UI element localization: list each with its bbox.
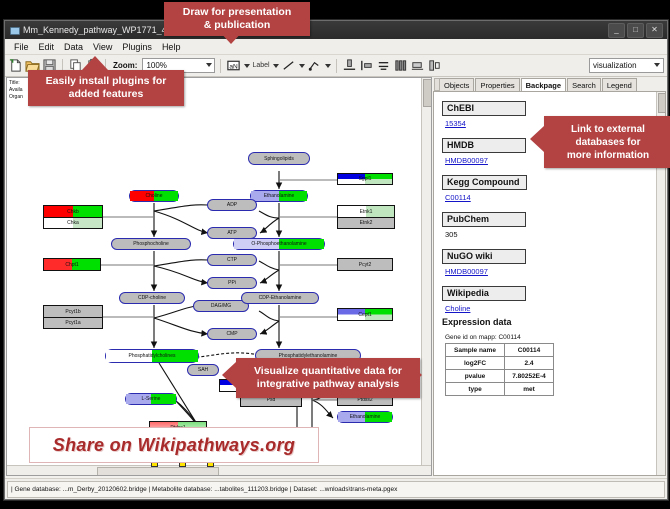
link-kegg[interactable]: C00114 [445, 193, 655, 202]
callout-plugins-line2: added features [69, 88, 144, 101]
new-file-icon[interactable] [8, 58, 23, 73]
section-header-hmdb: HMDB [442, 138, 526, 153]
node-label: PPi [228, 280, 236, 286]
node-label: CMP [226, 331, 237, 337]
gene-row[interactable]: Pcyt1b [44, 306, 102, 317]
node-ethanolamine-top[interactable]: Ethanolamine [250, 190, 308, 202]
cell-value: C00114 [505, 344, 554, 357]
window-titlebar: Mm_Kennedy_pathway_WP1771_45176.gpml _ □… [5, 21, 667, 39]
gene-label: Pcyt1b [65, 309, 80, 315]
gene-label: Chpt1 [65, 262, 78, 268]
callout-links-line1: Link to external [571, 123, 645, 136]
gene-label: Pcyt1a [65, 320, 80, 326]
callout-visualize-line2: integrative pathway analysis [257, 378, 399, 391]
callout-visualize-line1: Visualize quantitative data for [254, 365, 402, 378]
align-bottom-icon[interactable] [342, 58, 357, 73]
canvas-vertical-scrollbar[interactable] [421, 78, 431, 475]
gene-cept1[interactable]: Cept1 [337, 308, 393, 321]
node-ethanolamine-right[interactable]: Ethanolamine [337, 411, 393, 423]
node-label: CDP-choline [138, 295, 166, 301]
canvas-vertical-scroll-thumb[interactable] [423, 79, 431, 107]
cell-value: 7.80252E-4 [505, 370, 554, 383]
node-sphingolipids[interactable]: Sphingolipids [248, 152, 310, 165]
node-o-phosphoethanolamine[interactable]: O-Phosphoethanolamine [233, 238, 325, 250]
callout-links-line3: more information [567, 149, 649, 162]
expression-table: Sample name C00114 log2FC 2.4 pvalue 7.8… [445, 343, 554, 396]
gene-label: Etnk2 [360, 220, 373, 226]
callout-draw-arrow [218, 30, 244, 44]
callout-links: Link to external databases for more info… [544, 116, 670, 168]
backpage-scroll-thumb[interactable] [658, 93, 666, 113]
node-label: SAH [198, 367, 208, 373]
node-cmp[interactable]: CMP [207, 328, 257, 340]
zoom-value: 100% [146, 61, 166, 70]
share-banner-text: Share on Wikipathways.org [53, 435, 295, 456]
tab-objects[interactable]: Objects [439, 78, 474, 91]
callout-visualize-arrow-left [222, 362, 236, 388]
cell-key: type [446, 383, 505, 396]
gene-id-line: Gene id on mapp: C00114 [445, 334, 655, 341]
label-tool-label[interactable]: Label [252, 62, 269, 69]
section-header-nugo: NuGO wiki [442, 249, 526, 264]
cell-key: Sample name [446, 344, 505, 357]
link-wikipedia[interactable]: Choline [445, 304, 655, 313]
node-sah[interactable]: SAH [187, 364, 219, 376]
side-panel-tabs: Objects Properties Backpage Search Legen… [433, 77, 666, 91]
node-choline-top[interactable]: Choline [129, 190, 179, 202]
section-header-chebi: ChEBI [442, 101, 526, 116]
gene-label: Etnk1 [360, 209, 373, 215]
pathway-canvas[interactable]: Title: Availa Organ [7, 78, 431, 475]
pathway-canvas-panel[interactable]: Title: Availa Organ [6, 77, 432, 476]
link-nugo[interactable]: HMDB00097 [445, 267, 655, 276]
gene-row[interactable]: Etnk1 [338, 206, 394, 217]
maximize-icon[interactable]: □ [627, 23, 644, 38]
node-ppi[interactable]: PPi [207, 277, 257, 289]
callout-visualize: Visualize quantitative data for integrat… [236, 358, 420, 398]
node-label: L-Serine [142, 396, 161, 402]
tab-backpage[interactable]: Backpage [521, 78, 566, 92]
group-icon[interactable] [410, 58, 425, 73]
screenshot-root: Mm_Kennedy_pathway_WP1771_45176.gpml _ □… [0, 0, 670, 509]
gene-label: Pcyt2 [359, 262, 372, 268]
node-label: Sphingolipids [264, 156, 294, 162]
callout-plugins-arrow [82, 56, 108, 70]
line-icon[interactable] [281, 58, 296, 73]
app-icon [9, 25, 19, 35]
gene-chpt1[interactable]: Chpt1 [43, 258, 101, 271]
minimize-icon[interactable]: _ [608, 23, 625, 38]
section-header-kegg: Kegg Compound [442, 175, 527, 190]
tab-legend[interactable]: Legend [602, 78, 637, 91]
callout-links-arrow [530, 126, 544, 152]
gene-row[interactable]: Chkb [44, 206, 102, 217]
node-label: CDP-Ethanolamine [259, 295, 302, 301]
callout-visualize-arrow-right [408, 362, 422, 388]
gene-sgpl1[interactable]: Sgpl1 [337, 173, 393, 185]
gene-label: Chka [67, 220, 79, 226]
chevron-down-icon-visualization [654, 63, 660, 67]
tab-search[interactable]: Search [567, 78, 601, 91]
chevron-down-icon-datanode[interactable] [244, 64, 250, 68]
table-row: pvalue 7.80252E-4 [446, 370, 554, 383]
gene-etnk[interactable]: Etnk1 Etnk2 [337, 205, 395, 229]
statusbar: | Gene database: ...m_Derby_20120602.bri… [5, 478, 667, 499]
node-cdp-choline[interactable]: CDP-choline [119, 292, 185, 304]
node-label: Phosphatidylcholines [129, 353, 176, 359]
chevron-down-icon-interaction[interactable] [325, 64, 331, 68]
share-banner: Share on Wikipathways.org [29, 427, 319, 463]
expression-data-title: Expression data [442, 317, 655, 327]
visualization-combobox[interactable]: visualization [589, 58, 664, 73]
gene-row[interactable]: Etnk2 [338, 217, 394, 228]
gene-label: Chkb [67, 209, 79, 215]
node-phosphatidylcholines[interactable]: Phosphatidylcholines [105, 349, 199, 363]
node-label: DAG/MG [211, 303, 231, 309]
zoom-label: Zoom: [113, 61, 137, 70]
chevron-down-icon-line[interactable] [299, 64, 305, 68]
distribute-icon[interactable] [393, 58, 408, 73]
node-l-serine-left[interactable]: L-Serine [125, 393, 177, 405]
spacer [442, 239, 655, 246]
canvas-horizontal-scroll-thumb[interactable] [97, 467, 219, 475]
gene-row[interactable]: Pcyt1a [44, 317, 102, 328]
table-row: log2FC 2.4 [446, 357, 554, 370]
svg-text:aN: aN [230, 63, 239, 70]
toolbar-separator-3 [220, 59, 221, 73]
gene-chk[interactable]: Chkb Chka [43, 205, 103, 229]
cell-value: 2.4 [505, 357, 554, 370]
datanode-icon[interactable]: aN [226, 58, 241, 73]
value-pubchem: 305 [445, 230, 655, 239]
node-dag-mg[interactable]: DAG/MG [193, 300, 249, 312]
node-phosphocholine[interactable]: Phosphocholine [111, 238, 191, 250]
table-row: type met [446, 383, 554, 396]
canvas-horizontal-scrollbar[interactable] [7, 465, 431, 475]
gene-pcyt1[interactable]: Pcyt1b Pcyt1a [43, 305, 103, 329]
node-label: CTP [227, 257, 237, 263]
menu-data[interactable]: Data [59, 41, 88, 53]
stack-icon[interactable] [376, 58, 391, 73]
callout-draw-line1: Draw for presentation [183, 6, 292, 19]
callout-links-line2: databases for [575, 136, 640, 149]
node-cdp-ethanolamine[interactable]: CDP-Ethanolamine [241, 292, 319, 304]
cell-key: log2FC [446, 357, 505, 370]
node-ctp[interactable]: CTP [207, 254, 257, 266]
callout-plugins-line1: Easily install plugins for [46, 75, 167, 88]
table-row: Sample name C00114 [446, 344, 554, 357]
menubar: File Edit Data View Plugins Help [5, 39, 667, 55]
node-label: Ethanolamine [264, 193, 295, 199]
gene-row[interactable]: Chka [44, 217, 102, 228]
node-label: ATP [227, 230, 236, 236]
toolbar-separator-4 [336, 59, 337, 73]
node-label: O-Phosphoethanolamine [251, 241, 306, 247]
cell-key: pvalue [446, 370, 505, 383]
gene-pcyt2[interactable]: Pcyt2 [337, 258, 393, 271]
callout-plugins: Easily install plugins for added feature… [28, 70, 184, 106]
chevron-down-icon [206, 63, 212, 67]
chevron-down-icon-label[interactable] [273, 64, 279, 68]
gene-label: Sgpl1 [359, 176, 372, 182]
section-header-pubchem: PubChem [442, 212, 526, 227]
node-label: Choline [146, 193, 163, 199]
window-controls: _ □ ✕ [608, 23, 663, 38]
cell-value: met [505, 383, 554, 396]
node-adp[interactable]: ADP [207, 199, 257, 211]
section-header-wikipedia: Wikipedia [442, 286, 526, 301]
statusbar-text: | Gene database: ...m_Derby_20120602.bri… [7, 481, 665, 498]
menu-help[interactable]: Help [157, 41, 186, 53]
node-label: Ethanolamine [350, 414, 381, 420]
tab-properties[interactable]: Properties [475, 78, 519, 91]
menu-file[interactable]: File [9, 41, 34, 53]
menu-plugins[interactable]: Plugins [117, 41, 157, 53]
menu-view[interactable]: View [88, 41, 117, 53]
menu-edit[interactable]: Edit [34, 41, 60, 53]
align-left-icon[interactable] [359, 58, 374, 73]
gene-label: Cept1 [358, 312, 371, 318]
visualization-value: visualization [593, 61, 637, 70]
spacer [442, 276, 655, 283]
node-label: Phosphocholine [133, 241, 169, 247]
close-icon[interactable]: ✕ [646, 23, 663, 38]
interaction-icon[interactable] [307, 58, 322, 73]
order-icon[interactable] [427, 58, 442, 73]
spacer [442, 202, 655, 209]
node-label: ADP [227, 202, 237, 208]
